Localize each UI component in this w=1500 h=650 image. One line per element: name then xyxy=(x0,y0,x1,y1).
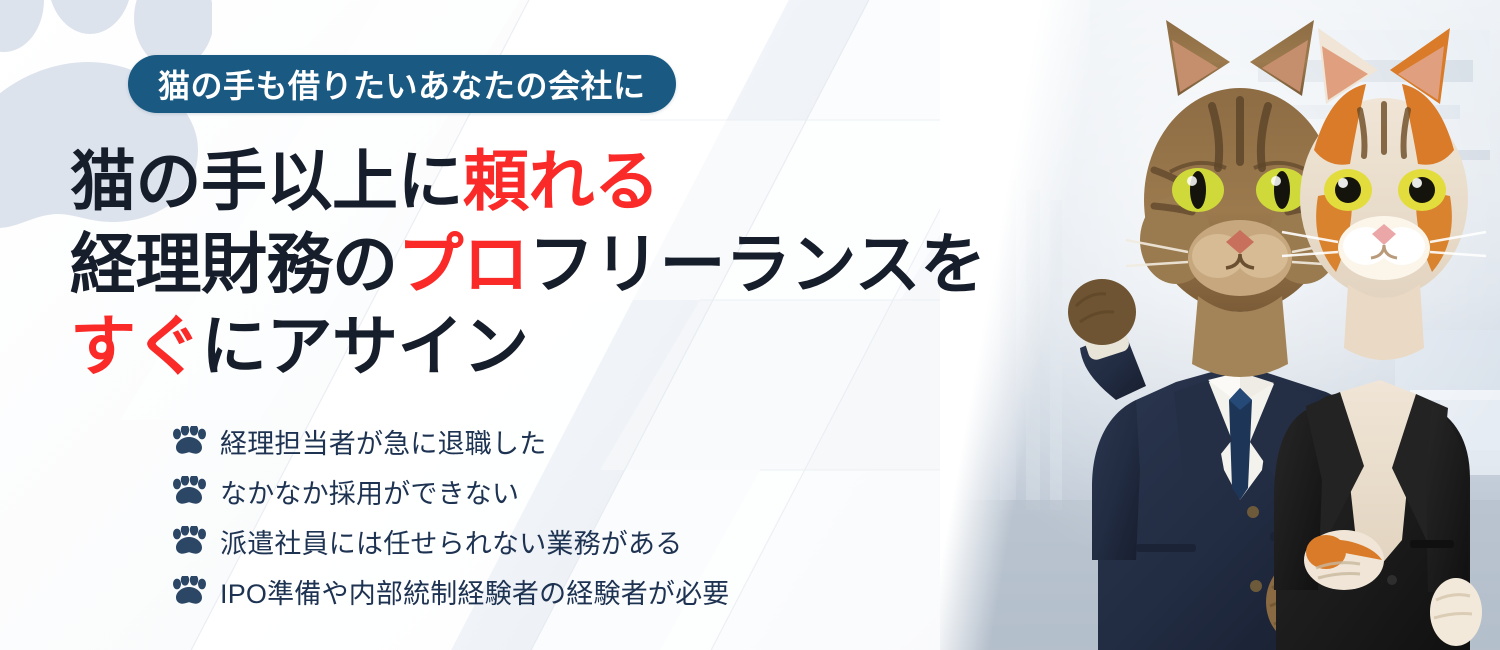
list-item: 派遣社員には任せられない業務がある xyxy=(172,522,730,560)
pain-point-list: 経理担当者が急に退職した なかなか採用ができない xyxy=(172,422,730,610)
list-item-label: 経理担当者が急に退職した xyxy=(220,422,546,461)
hero-badge-label: 猫の手も借りたいあなたの会社に xyxy=(158,61,646,107)
list-item-label: 派遣社員には任せられない業務がある xyxy=(220,522,682,561)
paw-print-icon xyxy=(172,476,206,506)
headline-line3-accent: すぐ xyxy=(70,309,201,383)
headline-line2-normal-a: 経理財務の xyxy=(70,227,398,301)
headline-line-2: 経理財務のプロフリーランスを xyxy=(70,223,970,306)
paw-print-icon xyxy=(172,576,206,606)
paw-print-icon xyxy=(172,426,206,456)
list-item-label: IPO準備や内部統制経験者の経験者が必要 xyxy=(220,572,730,611)
headline-line1-normal: 猫の手以上に xyxy=(70,144,463,218)
headline-line2-normal-b: フリーランスを xyxy=(529,227,986,301)
headline-line-1: 猫の手以上に頼れる xyxy=(70,140,970,223)
hero-headline: 猫の手以上に頼れる 経理財務のプロフリーランスを すぐにアサイン xyxy=(70,140,970,388)
list-item: 経理担当者が急に退職した xyxy=(172,422,730,460)
headline-line3-normal: にアサイン xyxy=(201,309,529,383)
paw-print-icon xyxy=(172,526,206,556)
list-item-label: なかなか採用ができない xyxy=(220,472,519,511)
hero-banner: 猫の手も借りたいあなたの会社に 猫の手以上に頼れる 経理財務のプロフリーランスを… xyxy=(0,0,1500,650)
hero-badge: 猫の手も借りたいあなたの会社に xyxy=(128,55,676,113)
list-item: IPO準備や内部統制経験者の経験者が必要 xyxy=(172,572,730,610)
headline-line-3: すぐにアサイン xyxy=(70,305,970,388)
headline-line1-accent: 頼れる xyxy=(463,144,660,218)
headline-line2-accent: プロ xyxy=(398,227,529,301)
hero-photo-business-cats xyxy=(940,0,1500,650)
list-item: なかなか採用ができない xyxy=(172,472,730,510)
